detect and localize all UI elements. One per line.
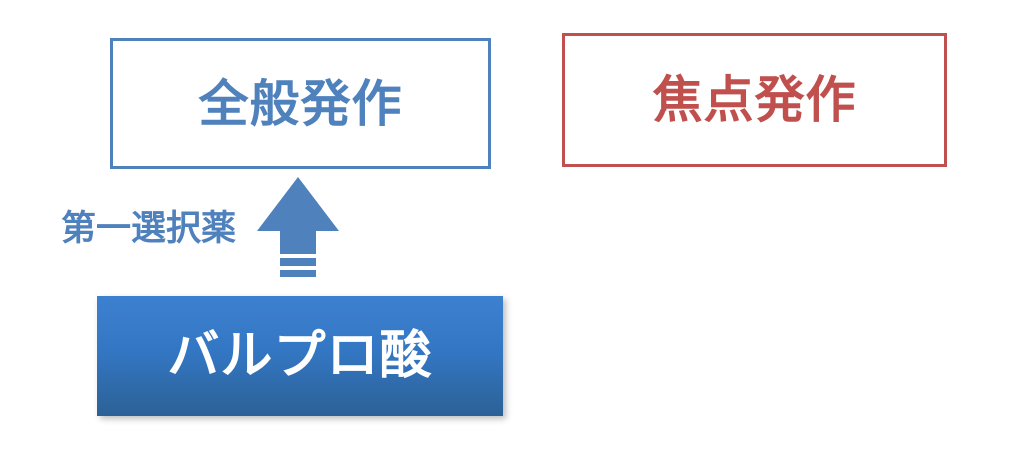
generalized-seizure-label: 全般発作 <box>199 79 403 129</box>
focal-seizure-label: 焦点発作 <box>653 75 857 125</box>
drug-name-label: バルプロ酸 <box>167 330 432 382</box>
first-line-drug-caption: 第一選択薬 <box>61 209 236 249</box>
diagram-canvas: 全般発作 焦点発作 第一選択薬 バルプロ酸 <box>0 0 1016 464</box>
drug-box-valproate[interactable]: バルプロ酸 <box>97 296 503 416</box>
striped-up-arrow-icon <box>256 176 340 282</box>
generalized-seizure-box[interactable]: 全般発作 <box>110 38 491 169</box>
focal-seizure-box[interactable]: 焦点発作 <box>562 33 947 167</box>
